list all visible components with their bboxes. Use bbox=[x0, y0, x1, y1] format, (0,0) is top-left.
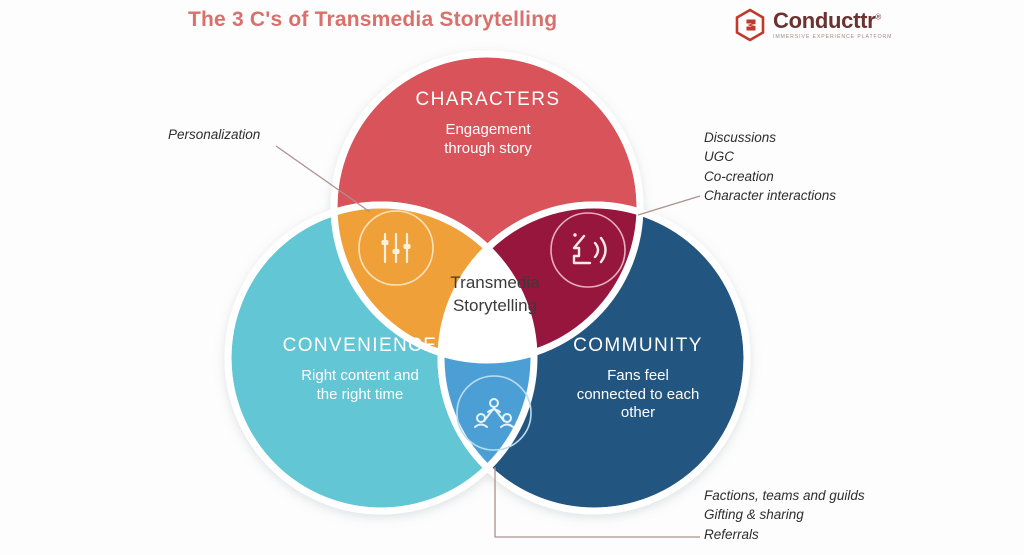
annotation-community-social: Factions, teams and guilds Gifting & sha… bbox=[704, 486, 865, 544]
annotation-line: Personalization bbox=[168, 125, 260, 144]
annotation-line: Referrals bbox=[704, 525, 865, 544]
venn-diagram-svg bbox=[0, 0, 1024, 555]
annotation-line: Factions, teams and guilds bbox=[704, 486, 865, 505]
annotation-community-engagement: Discussions UGC Co-creation Character in… bbox=[704, 128, 836, 206]
annotation-line: Co-creation bbox=[704, 167, 836, 186]
venn-diagram: CHARACTERS Engagement through story CONV… bbox=[0, 0, 1024, 555]
leader-line-community-engagement bbox=[638, 196, 700, 215]
annotation-line: Character interactions bbox=[704, 186, 836, 205]
annotation-personalization: Personalization bbox=[168, 125, 260, 144]
annotation-line: Discussions bbox=[704, 128, 836, 147]
annotation-line: UGC bbox=[704, 147, 836, 166]
annotation-line: Gifting & sharing bbox=[704, 505, 865, 524]
